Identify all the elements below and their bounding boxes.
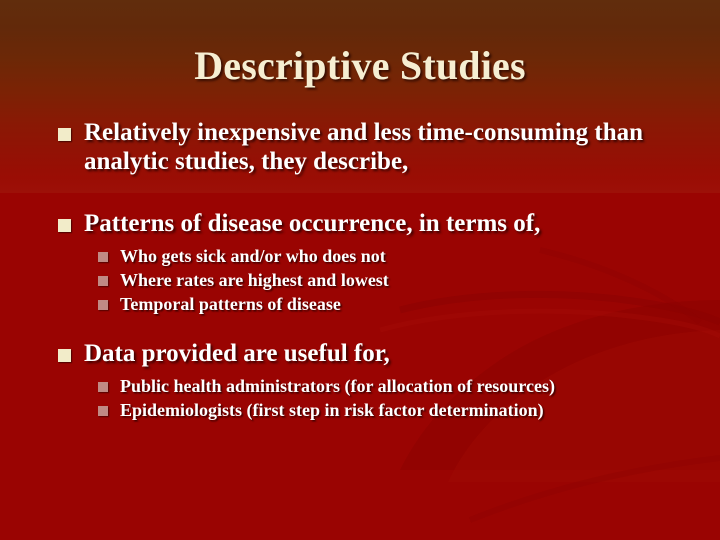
square-bullet-icon — [58, 219, 71, 232]
bullet-item-level1: Data provided are useful for, — [0, 339, 720, 368]
slide-body: Relatively inexpensive and less time-con… — [0, 118, 720, 538]
square-subbullet-icon — [98, 300, 108, 310]
bullet-text: Where rates are highest and lowest — [120, 270, 389, 290]
bullet-item-level2: Temporal patterns of disease — [0, 292, 720, 316]
bullet-text: Who gets sick and/or who does not — [120, 246, 386, 266]
bullet-text: Temporal patterns of disease — [120, 294, 341, 314]
square-subbullet-icon — [98, 276, 108, 286]
bullet-text: Patterns of disease occurrence, in terms… — [84, 210, 540, 237]
bullet-item-level1: Relatively inexpensive and less time-con… — [0, 118, 720, 176]
spacer — [0, 176, 720, 209]
bullet-text: Epidemiologists (first step in risk fact… — [120, 400, 544, 420]
bullet-text: Public health administrators (for alloca… — [120, 376, 555, 396]
square-subbullet-icon — [98, 252, 108, 262]
bullet-item-level2: Public health administrators (for alloca… — [0, 374, 720, 398]
square-subbullet-icon — [98, 406, 108, 416]
bullet-item-level2: Epidemiologists (first step in risk fact… — [0, 398, 720, 422]
presentation-slide: Descriptive Studies Relatively inexpensi… — [0, 0, 720, 540]
square-subbullet-icon — [98, 382, 108, 392]
bullet-item-level2: Who gets sick and/or who does not — [0, 244, 720, 268]
bullet-text: Data provided are useful for, — [84, 340, 390, 367]
bullet-text: Relatively inexpensive and less time-con… — [84, 119, 643, 175]
square-bullet-icon — [58, 128, 71, 141]
page-title: Descriptive Studies — [0, 42, 720, 89]
spacer — [0, 316, 720, 339]
square-bullet-icon — [58, 349, 71, 362]
bullet-item-level2: Where rates are highest and lowest — [0, 268, 720, 292]
bullet-item-level1: Patterns of disease occurrence, in terms… — [0, 209, 720, 238]
